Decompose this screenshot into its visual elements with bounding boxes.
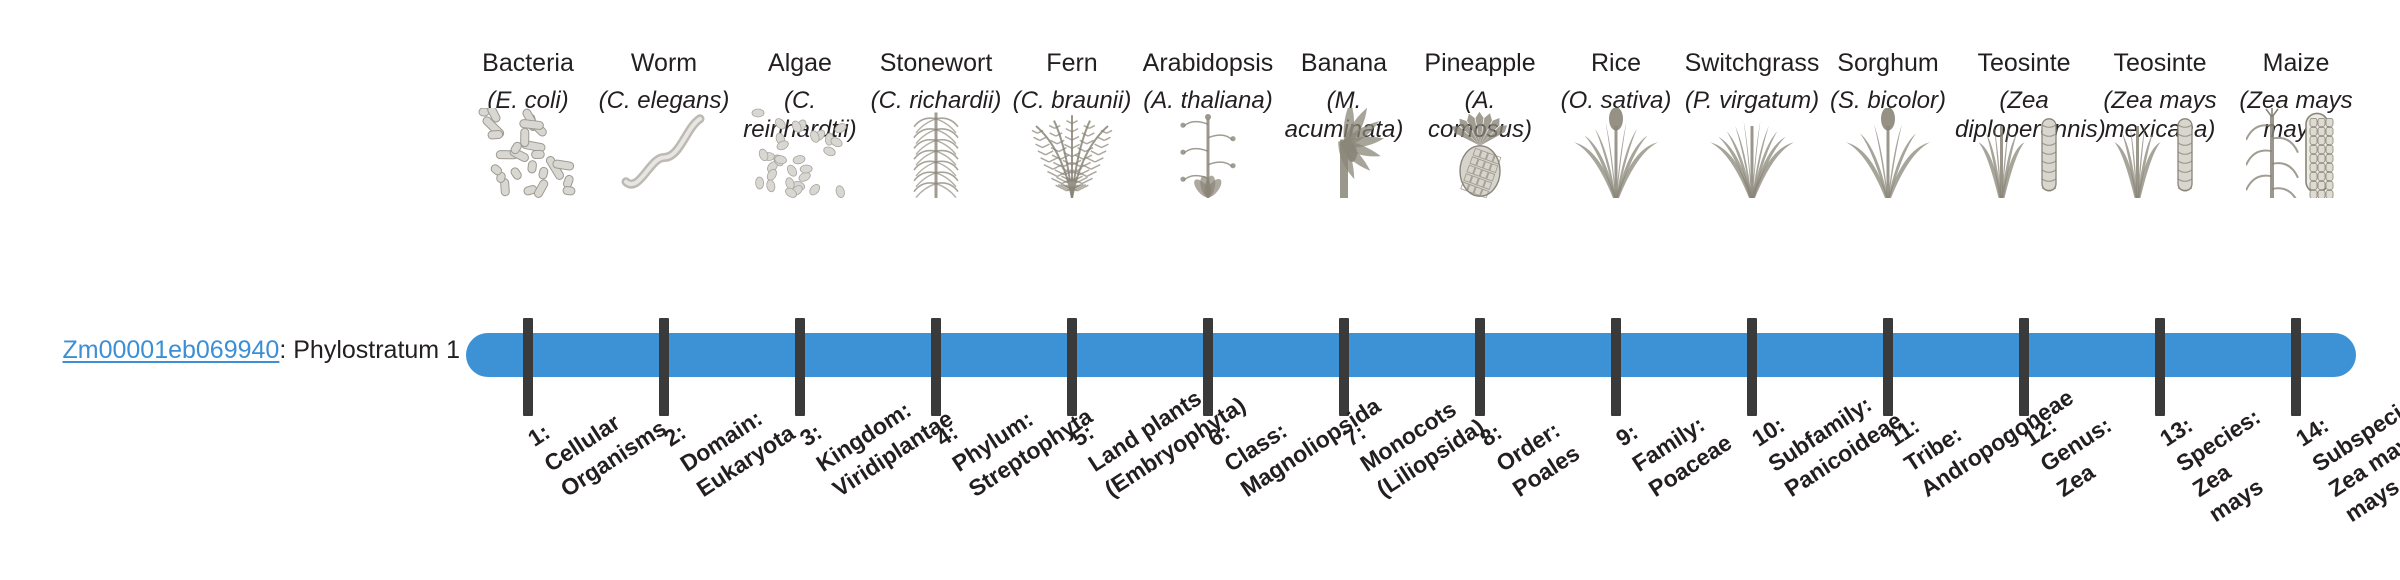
species-common-name: Arabidopsis (1133, 48, 1283, 78)
pineapple-icon (1405, 108, 1555, 198)
species-column: Stonewort(C. richardii) (861, 48, 1011, 115)
teosinte-icon (1949, 108, 2099, 198)
banana-icon (1269, 108, 1419, 198)
maize-icon (2221, 108, 2371, 198)
arabidopsis-icon (1133, 108, 1283, 198)
species-common-name: Worm (589, 48, 739, 78)
species-column: Worm(C. elegans) (589, 48, 739, 115)
bacteria-icon (453, 108, 603, 198)
species-common-name: Algae (725, 48, 875, 78)
switchgrass-icon (1677, 108, 1827, 198)
species-column: Bacteria(E. coli) (453, 48, 603, 115)
fern-icon (997, 108, 1147, 198)
teosinte-icon (2085, 108, 2235, 198)
species-common-name: Teosinte (1949, 48, 2099, 78)
algae-icon (725, 108, 875, 198)
species-column: Sorghum(S. bicolor) (1813, 48, 1963, 115)
species-column: Switchgrass(P. virgatum) (1677, 48, 1827, 115)
gene-id-link[interactable]: Zm00001eb069940 (62, 336, 279, 364)
phylostratum-value: Phylostratum 1 (293, 336, 460, 364)
gene-phylostratum-label: Zm00001eb069940: Phylostratum 1 (0, 335, 460, 365)
species-column: Rice(O. sativa) (1541, 48, 1691, 115)
sorghum-icon (1813, 108, 1963, 198)
rice-icon (1541, 108, 1691, 198)
species-common-name: Switchgrass (1677, 48, 1827, 78)
species-common-name: Rice (1541, 48, 1691, 78)
species-common-name: Fern (997, 48, 1147, 78)
species-common-name: Maize (2221, 48, 2371, 78)
worm-icon (589, 108, 739, 198)
phylostratum-figure: Zm00001eb069940: Phylostratum 1 Bacteria… (0, 0, 2400, 580)
species-common-name: Teosinte (2085, 48, 2235, 78)
species-common-name: Banana (1269, 48, 1419, 78)
species-common-name: Sorghum (1813, 48, 1963, 78)
species-common-name: Bacteria (453, 48, 603, 78)
species-common-name: Pineapple (1405, 48, 1555, 78)
gene-label-separator: : (279, 336, 293, 364)
species-column: Fern(C. braunii) (997, 48, 1147, 115)
stonewort-icon (861, 108, 1011, 198)
axis-tick (523, 318, 533, 416)
species-column: Arabidopsis(A. thaliana) (1133, 48, 1283, 115)
species-common-name: Stonewort (861, 48, 1011, 78)
